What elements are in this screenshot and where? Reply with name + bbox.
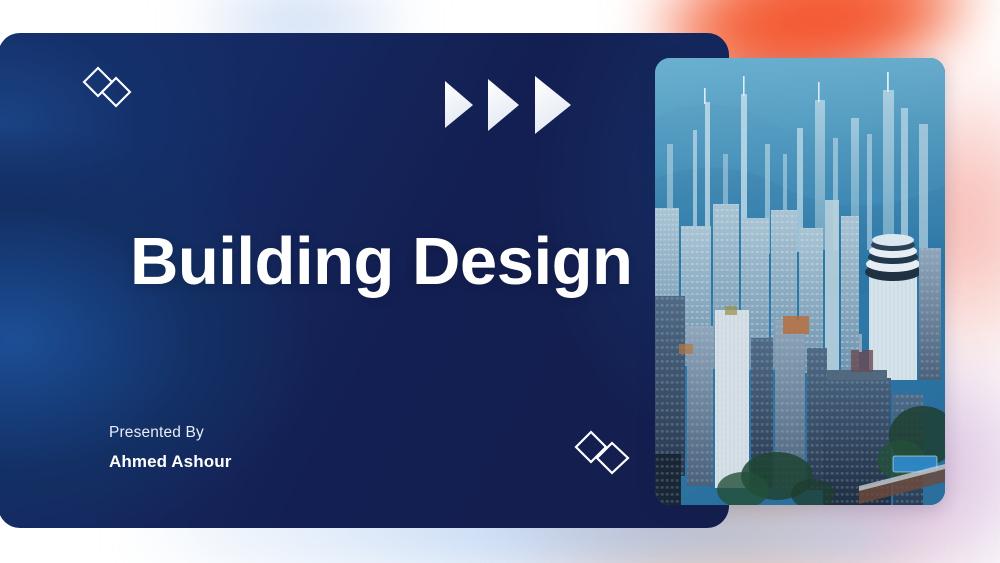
presented-by-label: Presented By (109, 424, 231, 442)
interlocking-diamonds-logo-icon (82, 63, 132, 111)
page-title: Building Design (130, 228, 632, 295)
presentation-slide: Building Design Presented By Ahmed Ashou… (0, 0, 1000, 563)
cityscape-photo: Aerial cityscape of dense high-rise buil… (655, 58, 945, 505)
interlocking-diamonds-logo-icon-secondary (574, 427, 630, 479)
triple-play-arrow-chevrons-icon (443, 76, 575, 138)
presenter-block: Presented By Ahmed Ashour (109, 424, 231, 472)
presenter-name: Ahmed Ashour (109, 452, 231, 472)
